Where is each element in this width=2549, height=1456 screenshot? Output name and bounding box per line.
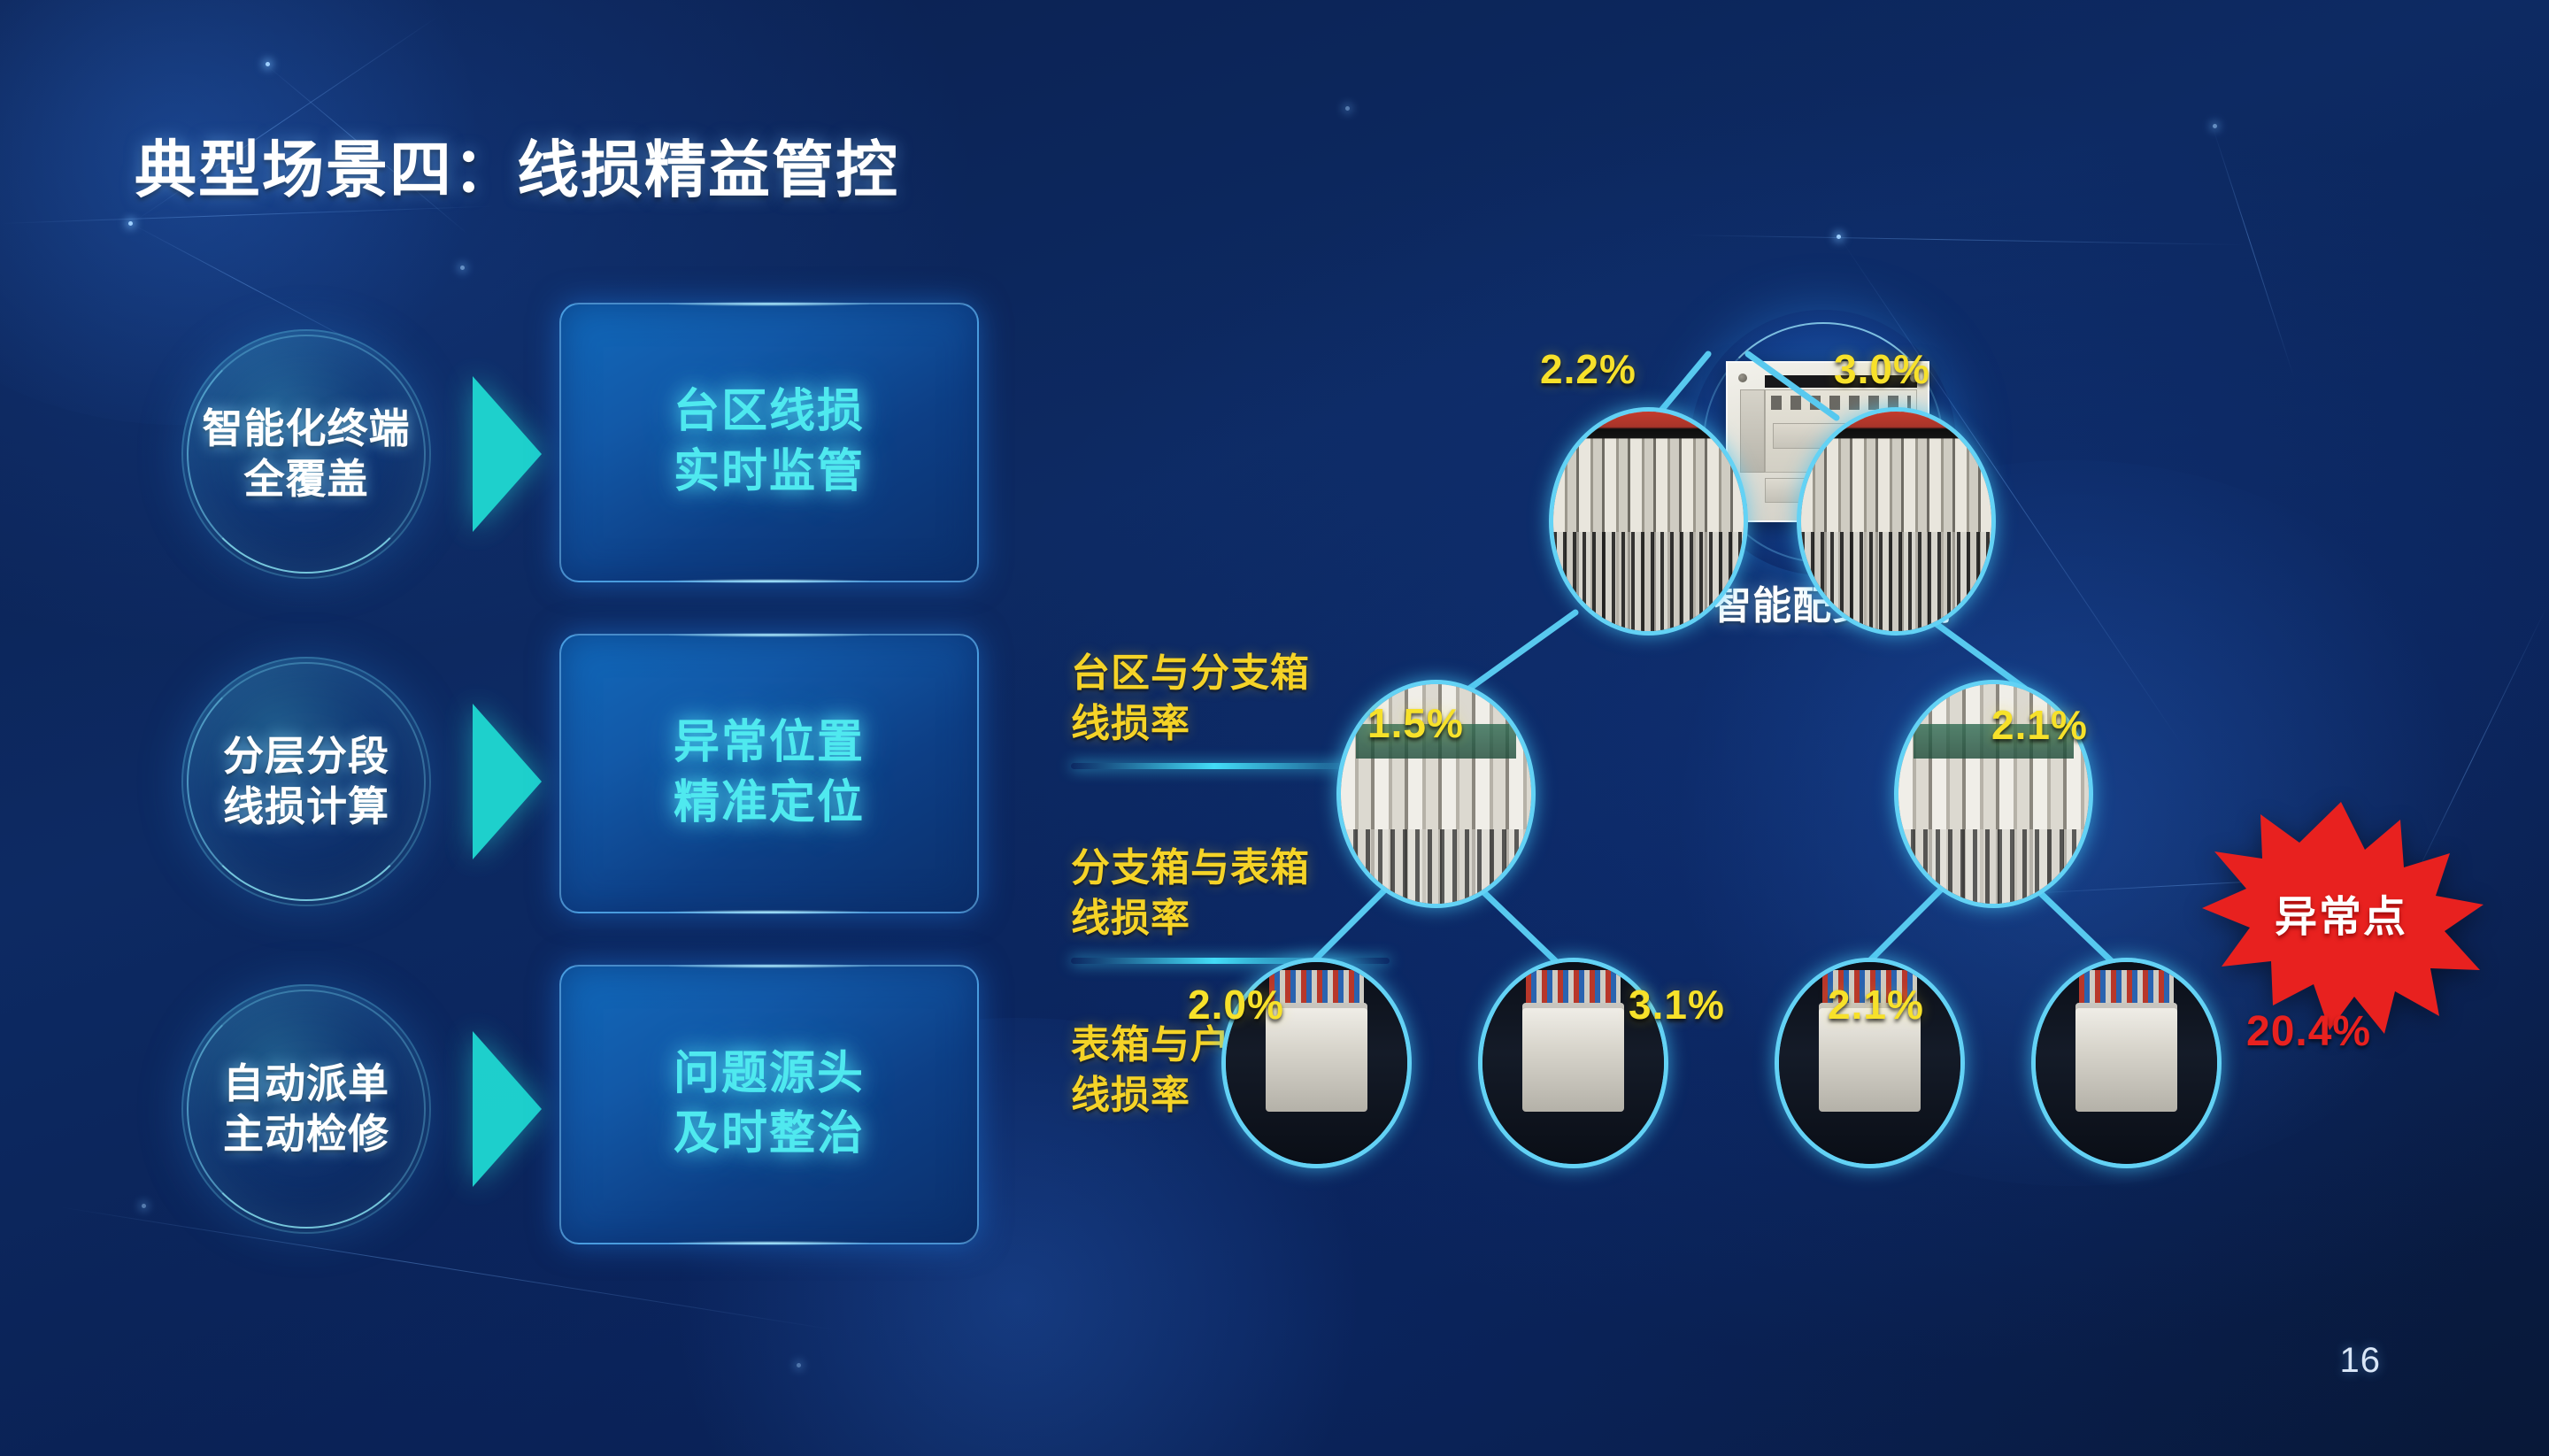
pct-label-meterbox-2: 2.1% xyxy=(1991,701,2088,749)
anomaly-value: 20.4% xyxy=(2246,1007,2371,1056)
pct-label-meter-3: 2.1% xyxy=(1828,981,1924,1028)
anomaly-label: 异常点 xyxy=(2195,882,2487,944)
arrow-icon-2 xyxy=(473,704,542,859)
pct-label-meter-1: 2.0% xyxy=(1188,981,1284,1028)
pipeline-card-1[interactable]: 台区线损实时监管 xyxy=(559,303,979,582)
anomaly-callout: 异常点 20.4% xyxy=(2195,797,2487,1036)
pct-label-branch-2: 3.0% xyxy=(1834,345,1930,393)
page-number: 16 xyxy=(2340,1341,2382,1381)
pct-label-branch-1: 2.2% xyxy=(1540,345,1636,393)
pipeline-card-2-label: 异常位置精准定位 xyxy=(674,713,865,833)
tree-node-branch-box-1 xyxy=(1549,407,1748,636)
pipeline-circle-1-label: 智能化终端全覆盖 xyxy=(203,404,411,505)
pct-label-meterbox-1: 1.5% xyxy=(1367,699,1464,747)
pipeline-circle-1: 智能化终端全覆盖 xyxy=(181,329,431,579)
arrow-icon-3 xyxy=(473,1031,542,1187)
pct-label-meter-2: 3.1% xyxy=(1629,981,1725,1028)
pipeline-circle-3-label: 自动派单主动检修 xyxy=(223,1059,389,1159)
pipeline-circle-3: 自动派单主动检修 xyxy=(181,984,431,1234)
pipeline-card-1-label: 台区线损实时监管 xyxy=(674,382,865,502)
pipeline-circle-2: 分层分段线损计算 xyxy=(181,657,431,906)
arrow-icon-1 xyxy=(473,376,542,532)
pipeline-circle-2-label: 分层分段线损计算 xyxy=(223,731,389,832)
pipeline-card-2[interactable]: 异常位置精准定位 xyxy=(559,634,979,913)
pipeline-card-3[interactable]: 问题源头及时整治 xyxy=(559,965,979,1244)
slide-canvas: 典型场景四：线损精益管控 智能化终端全覆盖 台区线损实时监管 分层分段线损计算 … xyxy=(0,0,2549,1456)
tree-node-branch-box-2 xyxy=(1797,407,1996,636)
pipeline-card-3-label: 问题源头及时整治 xyxy=(674,1044,865,1164)
tree-node-household-meter-4 xyxy=(2031,958,2222,1168)
slide-title: 典型场景四：线损精益管控 xyxy=(135,120,899,210)
